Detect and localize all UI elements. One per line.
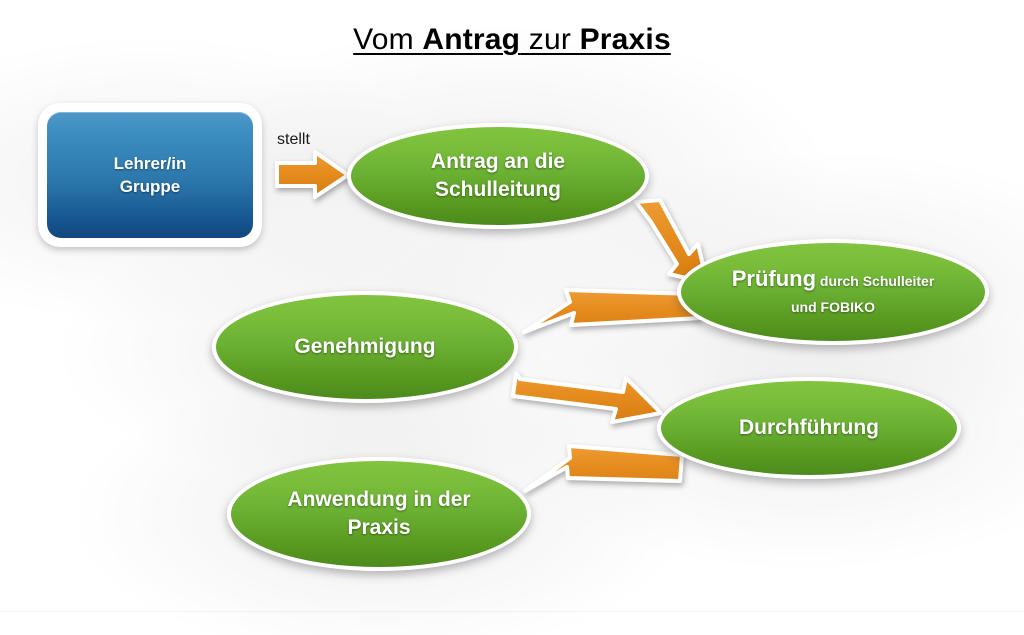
title-part-4: Praxis: [580, 23, 671, 56]
arrow-stellt: [277, 152, 348, 197]
arrow-durchfuehrung-to-anwendung: [525, 446, 682, 491]
node-antrag-schulleitung[interactable]: Antrag an die Schulleitung: [347, 123, 649, 229]
node-pruefung-detail1: durch Schulleiter: [816, 273, 934, 289]
node-durchfuehrung[interactable]: Durchführung: [657, 377, 961, 479]
node-genehmigung-text: Genehmigung: [240, 333, 490, 361]
node-antrag-schulleitung-text: Antrag an die Schulleitung: [375, 148, 621, 204]
title-part-3: zur: [520, 23, 579, 56]
node-pruefung-heading: Prüfung: [732, 266, 816, 291]
node-anwendung-praxis-line1: Anwendung in der: [287, 488, 470, 511]
node-lehrer-gruppe-line1: Lehrer/in: [114, 154, 187, 173]
node-lehrer-gruppe[interactable]: Lehrer/in Gruppe: [38, 103, 262, 247]
node-lehrer-gruppe-text: Lehrer/in Gruppe: [114, 152, 187, 198]
node-antrag-schulleitung-line1: Antrag an die: [431, 150, 565, 173]
node-anwendung-praxis[interactable]: Anwendung in der Praxis: [227, 457, 531, 571]
node-genehmigung[interactable]: Genehmigung: [212, 291, 518, 403]
arrow-genehmigung-to-durchfuehrung: [513, 373, 661, 422]
node-pruefung-text: Prüfung durch Schulleiter und FOBIKO: [697, 266, 969, 319]
node-antrag-schulleitung-line2: Schulleitung: [435, 178, 561, 201]
edge-label-stellt: stellt: [277, 131, 310, 149]
background-hairline: [0, 611, 1024, 612]
diagram-canvas: Vom Antrag zur Praxis: [0, 0, 1024, 635]
node-anwendung-praxis-line2: Praxis: [347, 516, 410, 539]
title-part-2: Antrag: [422, 23, 520, 56]
node-pruefung[interactable]: Prüfung durch Schulleiter und FOBIKO: [677, 239, 989, 345]
node-anwendung-praxis-text: Anwendung in der Praxis: [255, 486, 503, 542]
node-durchfuehrung-text: Durchführung: [685, 414, 933, 442]
node-pruefung-detail2: und FOBIKO: [791, 299, 875, 315]
title-part-1: Vom: [353, 23, 422, 56]
node-lehrer-gruppe-line2: Gruppe: [120, 177, 180, 196]
arrow-pruefung-to-genehmigung: [524, 290, 700, 332]
page-title: Vom Antrag zur Praxis: [0, 22, 1024, 58]
node-lehrer-gruppe-body: Lehrer/in Gruppe: [47, 112, 253, 238]
